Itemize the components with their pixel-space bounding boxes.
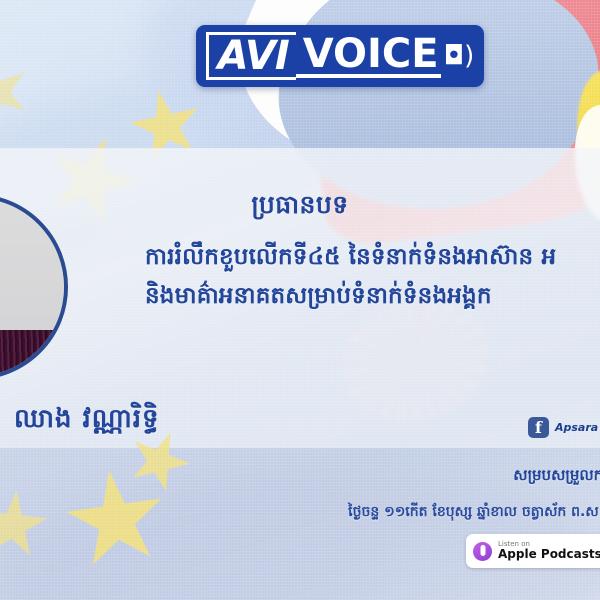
podcast-badges: Listen on Apple Podcasts [466,534,600,568]
topic-label: ប្រធានបទ [0,190,600,226]
apple-podcasts-icon [473,542,492,561]
logo-voice-text: VOICE [296,34,441,78]
facebook-link[interactable]: f Apsara Me [528,417,600,438]
title-line-1: ការរំលឹកខួបលើកទី៤៥ នៃទំនាក់ទំនងអាស៊ាន អ [145,243,556,276]
speaker-name: ឈាង វណ្ណារិទ្ធិ [14,402,160,440]
facebook-icon: f [528,417,549,438]
apple-podcasts-label: Listen on Apple Podcasts [498,541,600,561]
title-line-2: និងមាគ៌ាអនាគតសម្រាប់ទំនាក់ទំនងអង្គក [145,282,492,315]
avi-voice-logo[interactable]: AVI VOICE ◘) [196,25,484,87]
logo-avi-text: AVI [206,32,296,80]
host-credit: សម្របសម្រួលកម្មវិធីដោ [513,466,600,488]
apple-podcasts-badge[interactable]: Listen on Apple Podcasts [466,534,600,568]
date-line: ថ្ងៃចន្ទ ១១កើត ខែបុស្ស ឆ្នាំខាល ចត្វាស័ក… [348,502,600,523]
facebook-page-name: Apsara Me [555,421,600,434]
sound-wave-icon: ◘) [444,43,475,69]
presentation-card: AVI VOICE ◘) ប្រធានបទ ការរំលឹកខួបលើកទី៤៥… [0,0,600,600]
badge-title: Apple Podcasts [498,548,600,561]
avatar-hair [0,330,64,376]
